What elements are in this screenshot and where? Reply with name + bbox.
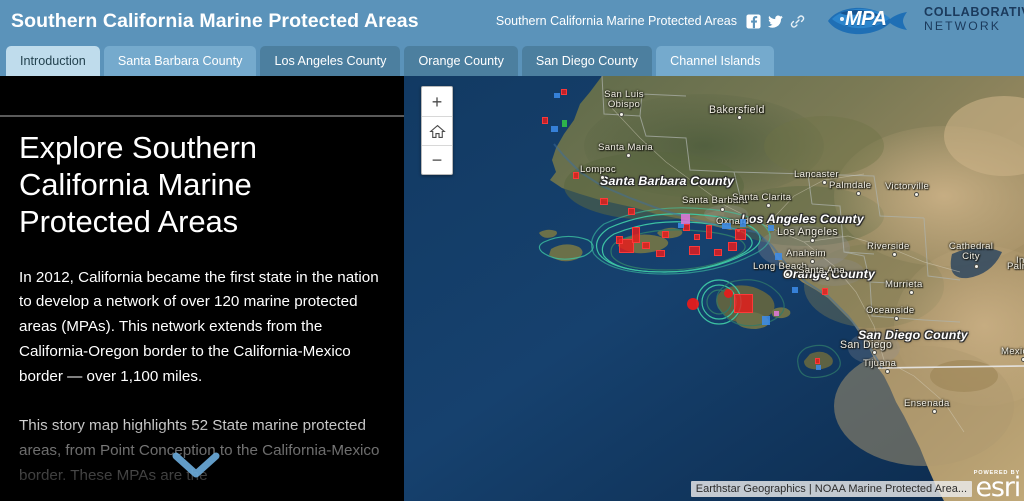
mpa-marker[interactable]	[735, 229, 746, 240]
basemap-imagery	[404, 76, 1024, 501]
map-viewport[interactable]: +− Santa Barbara CountyLos Angeles Count…	[404, 76, 1024, 501]
story-map-app: Southern California Marine Protected Are…	[0, 0, 1024, 501]
mpa-marker-green[interactable]	[562, 120, 567, 127]
twitter-icon[interactable]	[768, 14, 783, 29]
tab-introduction[interactable]: Introduction	[6, 46, 100, 76]
page-title: Southern California Marine Protected Are…	[11, 10, 419, 33]
home-icon	[429, 123, 446, 140]
city-dot	[720, 207, 725, 212]
mpa-marker-blue[interactable]	[775, 253, 782, 260]
city-dot	[785, 272, 790, 277]
tab-los-angeles-county[interactable]: Los Angeles County	[260, 46, 400, 76]
city-dot	[894, 316, 899, 321]
mpa-marker[interactable]	[728, 242, 737, 251]
header-right-group: Southern California Marine Protected Are…	[496, 0, 1024, 42]
mpa-marker-blue[interactable]	[551, 126, 558, 132]
city-dot	[856, 191, 861, 196]
mpa-marker[interactable]	[694, 234, 700, 240]
zoom-in-button[interactable]: +	[422, 87, 452, 116]
logo-mark-text: MPA	[845, 8, 886, 31]
map-zoom-controls: +−	[421, 86, 453, 175]
panel-paragraph-1: In 2012, California became the first sta…	[19, 266, 385, 390]
mpa-marker-blue[interactable]	[792, 287, 798, 293]
zoom-in-button-glyph: +	[432, 93, 443, 111]
logo-wordmark: COLLABORATIVE NETWORK	[924, 6, 1024, 33]
mpa-marker[interactable]	[573, 172, 579, 179]
city-dot	[872, 350, 877, 355]
mpa-marker-blue[interactable]	[762, 316, 770, 325]
logo-line-1: COLLABORATIVE	[924, 6, 1024, 19]
mpa-marker[interactable]	[815, 358, 820, 364]
mpa-marker-pink[interactable]	[774, 311, 779, 316]
mpa-marker[interactable]	[642, 242, 650, 249]
app-header: Southern California Marine Protected Are…	[0, 0, 1024, 42]
panel-top-divider	[0, 115, 404, 117]
tab-san-diego-county[interactable]: San Diego County	[522, 46, 652, 76]
panel-content: Explore Southern California Marine Prote…	[19, 130, 385, 489]
esri-logo[interactable]: POWERED BY esri	[974, 471, 1020, 500]
mpa-marker-blue[interactable]	[554, 93, 560, 98]
mpa-marker[interactable]	[542, 117, 548, 124]
city-dot	[825, 276, 830, 281]
city-dot	[892, 252, 897, 257]
social-share-group	[746, 14, 805, 29]
mpa-marker[interactable]	[632, 227, 640, 243]
mpa-marker-point[interactable]	[724, 289, 733, 298]
home-button[interactable]	[422, 116, 452, 145]
city-dot	[600, 175, 605, 180]
mpa-marker-blue[interactable]	[816, 365, 821, 370]
city-dot	[909, 290, 914, 295]
mpa-marker[interactable]	[561, 89, 567, 95]
mpa-collaborative-network-logo[interactable]: MPA COLLABORATIVE NETWORK	[818, 0, 1024, 42]
logo-line-2: NETWORK	[924, 20, 1024, 33]
mpa-marker[interactable]	[662, 231, 669, 238]
mpa-marker[interactable]	[628, 208, 635, 215]
mpa-marker[interactable]	[689, 246, 700, 255]
mpa-marker[interactable]	[822, 288, 828, 295]
city-dot	[737, 115, 742, 120]
city-dot	[822, 180, 827, 185]
map-attribution[interactable]: Earthstar Geographics | NOAA Marine Prot…	[691, 481, 972, 497]
city-dot	[766, 203, 771, 208]
city-dot	[626, 153, 631, 158]
mpa-marker[interactable]	[616, 236, 623, 244]
section-tabs: IntroductionSanta Barbara CountyLos Ange…	[0, 42, 1024, 76]
zoom-out-button-glyph: −	[432, 151, 443, 169]
zoom-out-button[interactable]: −	[422, 145, 452, 174]
tab-orange-county[interactable]: Orange County	[404, 46, 517, 76]
mpa-marker[interactable]	[734, 294, 753, 313]
city-dot	[914, 192, 919, 197]
scroll-down-chevron-icon[interactable]	[168, 448, 224, 484]
facebook-icon[interactable]	[746, 14, 761, 29]
mpa-marker[interactable]	[683, 224, 690, 231]
city-dot	[932, 409, 937, 414]
city-dot	[974, 264, 979, 269]
tab-channel-islands[interactable]: Channel Islands	[656, 46, 774, 76]
mpa-marker-point[interactable]	[687, 298, 699, 310]
panel-heading: Explore Southern California Marine Prote…	[19, 130, 385, 241]
city-dot	[619, 112, 624, 117]
mpa-marker-blue[interactable]	[768, 225, 774, 231]
mpa-marker-pink[interactable]	[681, 214, 690, 224]
mpa-marker[interactable]	[706, 225, 712, 239]
city-dot	[810, 259, 815, 264]
mpa-marker[interactable]	[714, 249, 722, 256]
mpa-marker-blue[interactable]	[722, 223, 731, 229]
share-title-label: Southern California Marine Protected Are…	[496, 14, 737, 28]
esri-wordmark: esri	[974, 476, 1020, 500]
tab-santa-barbara-county[interactable]: Santa Barbara County	[104, 46, 257, 76]
link-icon[interactable]	[790, 14, 805, 29]
mpa-marker-blue[interactable]	[740, 219, 746, 227]
city-dot	[885, 369, 890, 374]
city-dot	[810, 238, 815, 243]
story-side-panel: Explore Southern California Marine Prote…	[0, 76, 404, 501]
mpa-marker[interactable]	[656, 250, 665, 257]
mpa-marker[interactable]	[600, 198, 608, 205]
